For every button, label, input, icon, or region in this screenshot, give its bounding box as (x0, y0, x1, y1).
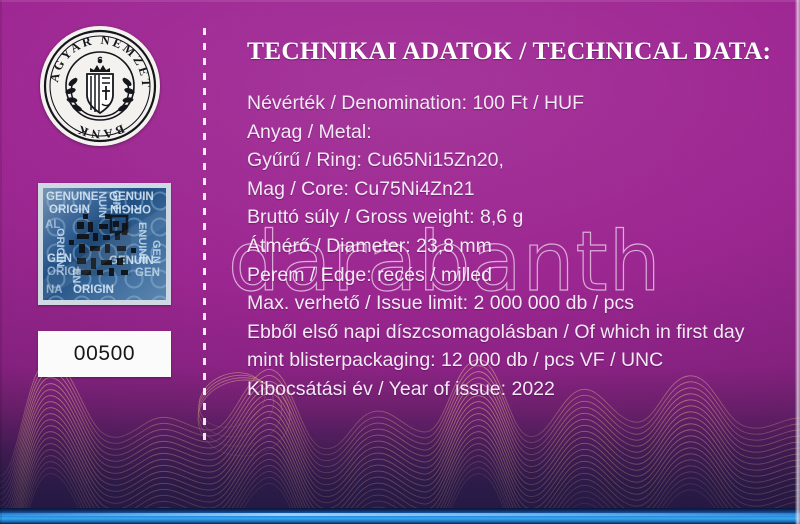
spec-line: Mag / Core: Cu75Ni4Zn21 (247, 175, 782, 204)
magyar-nemzeti-bank-seal-icon: MAGYAR NEMZETI BANK (40, 26, 160, 146)
page-title: TECHNIKAI ADATOK / TECHNICAL DATA: (247, 36, 782, 66)
svg-text:GEN: GEN (150, 240, 162, 264)
perforation-dashed-line (203, 28, 206, 448)
spec-line: Kibocsátási év / Year of issue: 2022 (247, 375, 782, 404)
spec-line: Perem / Edge: recés / milled (247, 261, 782, 290)
specifications-list: Névérték / Denomination: 100 Ft / HUF An… (247, 89, 782, 404)
spec-line: Bruttó súly / Gross weight: 8,6 g (247, 203, 782, 232)
technical-data-panel: TECHNIKAI ADATOK / TECHNICAL DATA: Névér… (247, 36, 782, 404)
spec-line: Gyűrű / Ring: Cu65Ni15Zn20, (247, 146, 782, 175)
hologram-surface: GENUINE GENUIN ORIGIN ORIGIN AL GEN ORIG… (43, 188, 166, 300)
spec-line: Névérték / Denomination: 100 Ft / HUF (247, 89, 782, 118)
svg-text:ORIGIN: ORIGIN (54, 228, 66, 267)
spec-line: Átmérő / Diameter: 23,8 mm (247, 232, 782, 261)
bottom-blue-strip (0, 508, 800, 524)
svg-text:NUIN: NUIN (96, 191, 108, 218)
svg-text:GIN: GIN (110, 190, 122, 210)
spec-line: Ebből első napi díszcsomagolásban / Of w… (247, 318, 782, 347)
svg-text:GENUINE: GENUINE (46, 191, 99, 203)
blue-strip-highlight (0, 513, 800, 516)
svg-text:GEN: GEN (135, 267, 160, 279)
technical-data-card: MAGYAR NEMZETI BANK (0, 0, 800, 524)
serial-number-value: 00500 (74, 342, 135, 366)
spec-line: Max. verhető / Issue limit: 2 000 000 db… (247, 289, 782, 318)
holographic-security-sticker: GENUINE GENUIN ORIGIN ORIGIN AL GEN ORIG… (38, 183, 171, 305)
spec-line: Anyag / Metal: (247, 118, 782, 147)
svg-text:ORIGIN: ORIGIN (73, 284, 114, 296)
serial-number-box: 00500 (38, 331, 171, 377)
spec-line: mint blisterpackaging: 12 000 db / pcs V… (247, 346, 782, 375)
